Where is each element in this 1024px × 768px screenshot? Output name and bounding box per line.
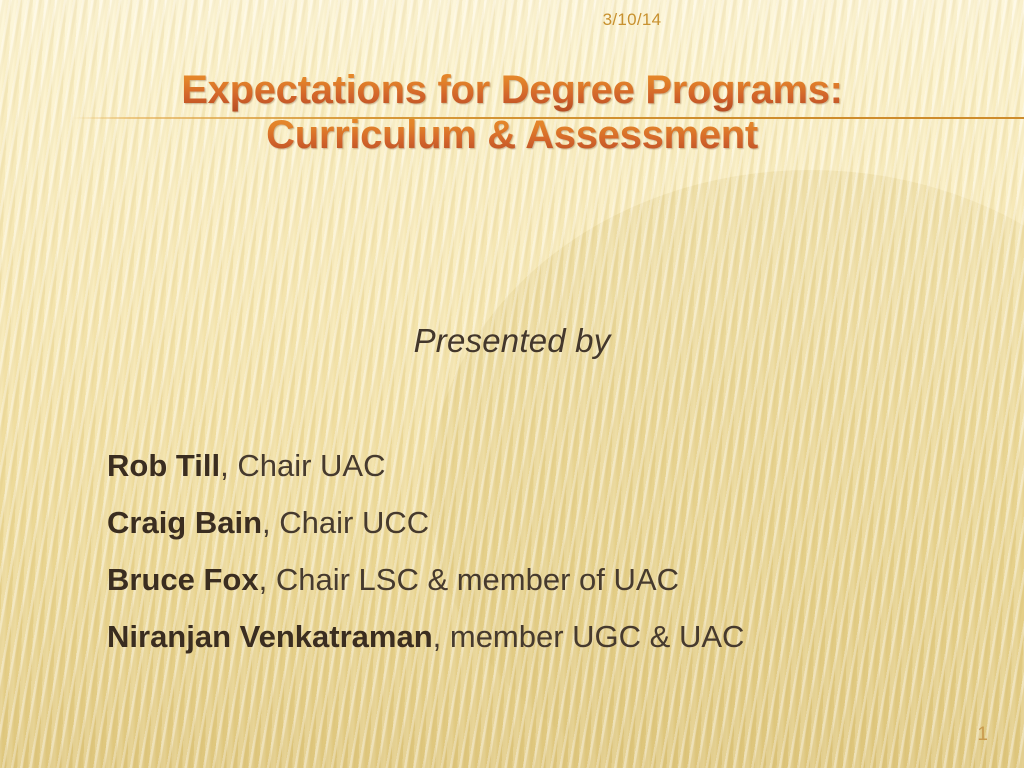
presenter-name: Rob Till	[107, 448, 220, 483]
presentation-slide: 3/10/14 Expectations for Degree Programs…	[0, 0, 1024, 768]
slide-number: 1	[977, 724, 988, 746]
presenter-name: Bruce Fox	[107, 562, 259, 597]
presenter-role: , Chair UAC	[220, 448, 385, 483]
presenter-role: , Chair UCC	[262, 505, 429, 540]
presenter-name: Craig Bain	[107, 505, 262, 540]
presenter-role: , Chair LSC & member of UAC	[259, 562, 679, 597]
presented-by-label: Presented by	[0, 322, 1024, 360]
slide-title: Expectations for Degree Programs: Curric…	[0, 68, 1024, 158]
presenter-row: Rob Till, Chair UAC	[107, 437, 967, 494]
presenter-role: , member UGC & UAC	[433, 619, 745, 654]
presenter-list: Rob Till, Chair UAC Craig Bain, Chair UC…	[107, 437, 967, 665]
presenter-row: Craig Bain, Chair UCC	[107, 494, 967, 551]
slide-title-line-1: Expectations for Degree Programs:	[0, 68, 1024, 113]
slide-title-line-2: Curriculum & Assessment	[0, 113, 1024, 158]
presenter-row: Bruce Fox, Chair LSC & member of UAC	[107, 551, 967, 608]
slide-date: 3/10/14	[0, 10, 1024, 30]
presenter-name: Niranjan Venkatraman	[107, 619, 433, 654]
presenter-row: Niranjan Venkatraman, member UGC & UAC	[107, 608, 967, 665]
